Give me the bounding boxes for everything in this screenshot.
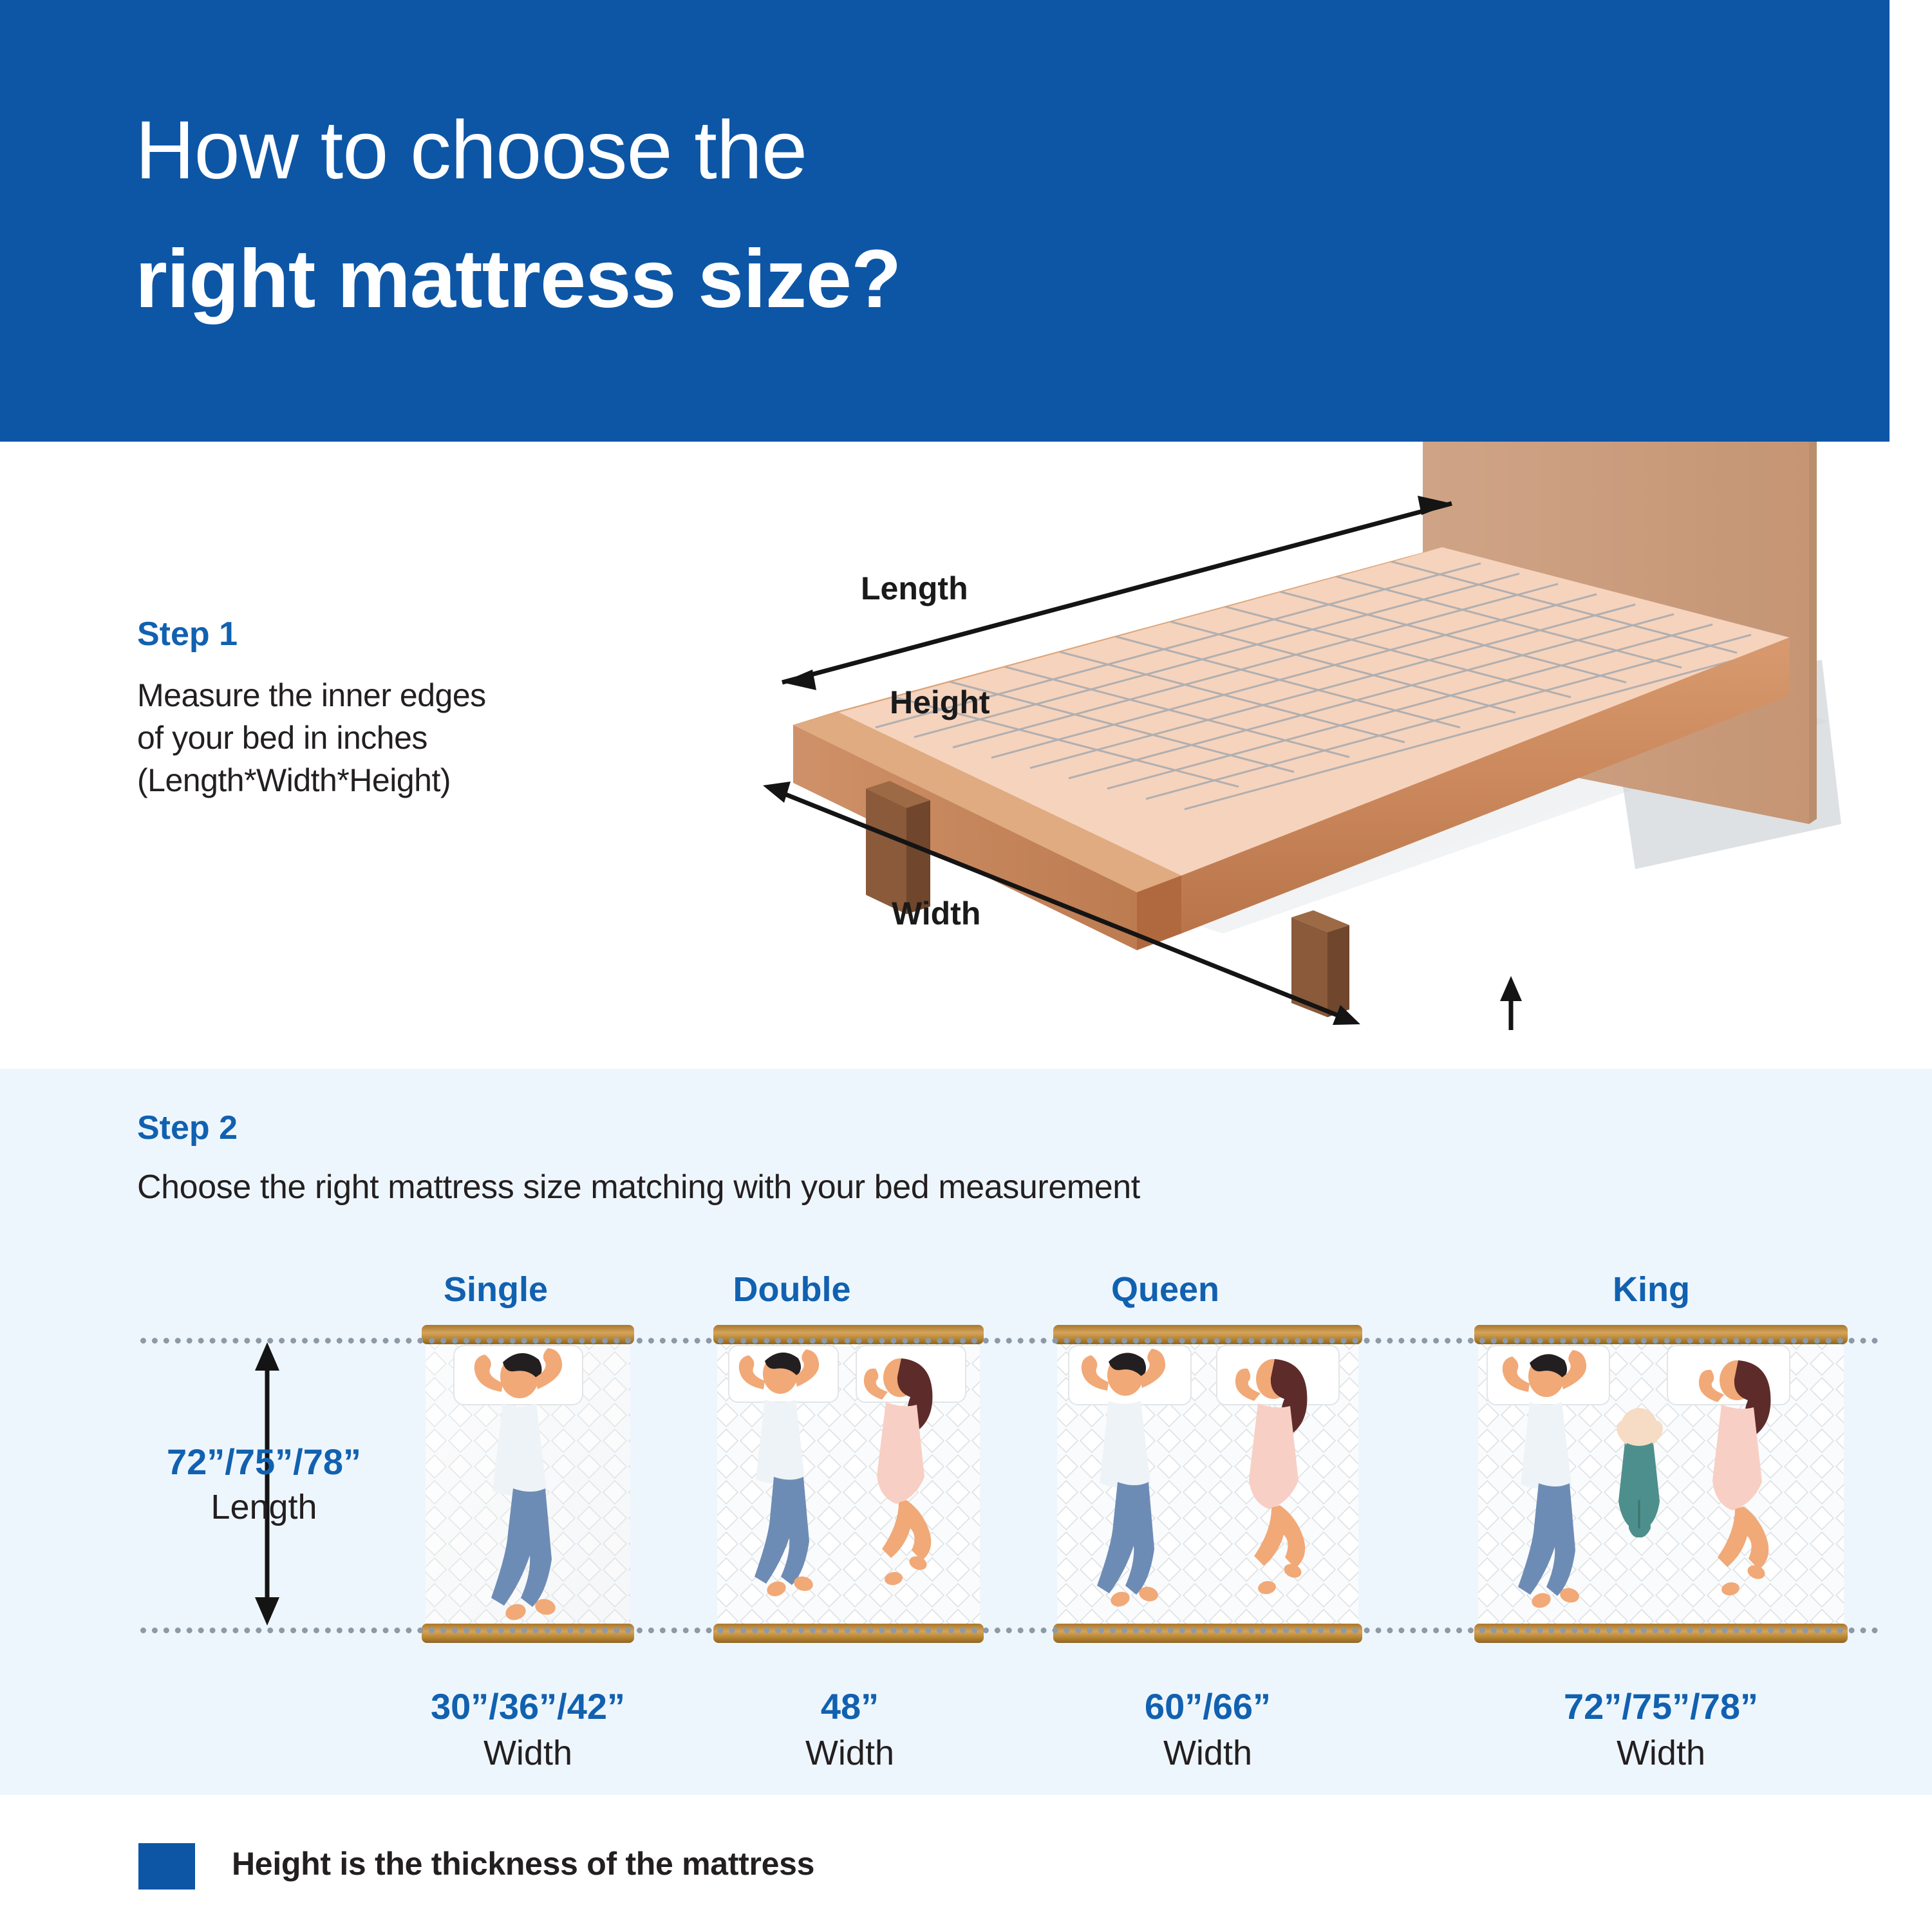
mattress-card-single[interactable] [422, 1325, 634, 1643]
step2-block: Step 2 Choose the right mattress size ma… [137, 1109, 1682, 1206]
mattress-card-king[interactable] [1474, 1325, 1848, 1643]
width-value-double: 48” [695, 1685, 1004, 1727]
guide-line-bottom [140, 1627, 1879, 1633]
size-heading-king: King [1535, 1270, 1767, 1309]
step1-body-line3: (Length*Width*Height) [137, 759, 652, 802]
width-value-single: 30”/36”/42” [373, 1685, 682, 1727]
page-title-line1: How to choose the [135, 109, 807, 192]
header-banner: How to choose the right mattress size? [0, 0, 1890, 442]
legend-text: Height is the thickness of the mattress [232, 1845, 814, 1882]
length-axis-value: 72”/75”/78” [126, 1441, 402, 1483]
size-heading-double: Double [676, 1270, 908, 1309]
step1-block: Step 1 Measure the inner edges of your b… [137, 615, 652, 802]
length-axis-word: Length [126, 1487, 402, 1527]
size-heading-queen: Queen [1049, 1270, 1281, 1309]
width-word-king: Width [1506, 1733, 1815, 1773]
length-axis-arrow [245, 1342, 290, 1626]
mattress-card-queen[interactable] [1053, 1325, 1362, 1643]
bed-height-label: Height [890, 684, 990, 721]
bed-length-label: Length [861, 570, 968, 607]
step1-body-line2: of your bed in inches [137, 717, 652, 759]
width-value-queen: 60”/66” [1053, 1685, 1362, 1727]
legend-color-swatch [138, 1843, 195, 1890]
size-heading-single: Single [380, 1270, 612, 1309]
mattress-card-double[interactable] [713, 1325, 984, 1643]
step1-body-line1: Measure the inner edges [137, 674, 652, 717]
width-word-single: Width [373, 1733, 682, 1773]
guide-line-top [140, 1338, 1879, 1344]
width-value-king: 72”/75”/78” [1506, 1685, 1815, 1727]
infographic-page: Length Height Width How to choose the ri… [0, 0, 1932, 1932]
step1-kicker: Step 1 [137, 615, 652, 653]
bed-width-label: Width [892, 895, 980, 932]
step2-kicker: Step 2 [137, 1109, 1682, 1147]
width-word-double: Width [695, 1733, 1004, 1773]
step2-body: Choose the right mattress size matching … [137, 1168, 1682, 1206]
headboard-right-edge [1809, 427, 1817, 824]
width-word-queen: Width [1053, 1733, 1362, 1773]
page-title-line2: right mattress size? [135, 238, 901, 321]
